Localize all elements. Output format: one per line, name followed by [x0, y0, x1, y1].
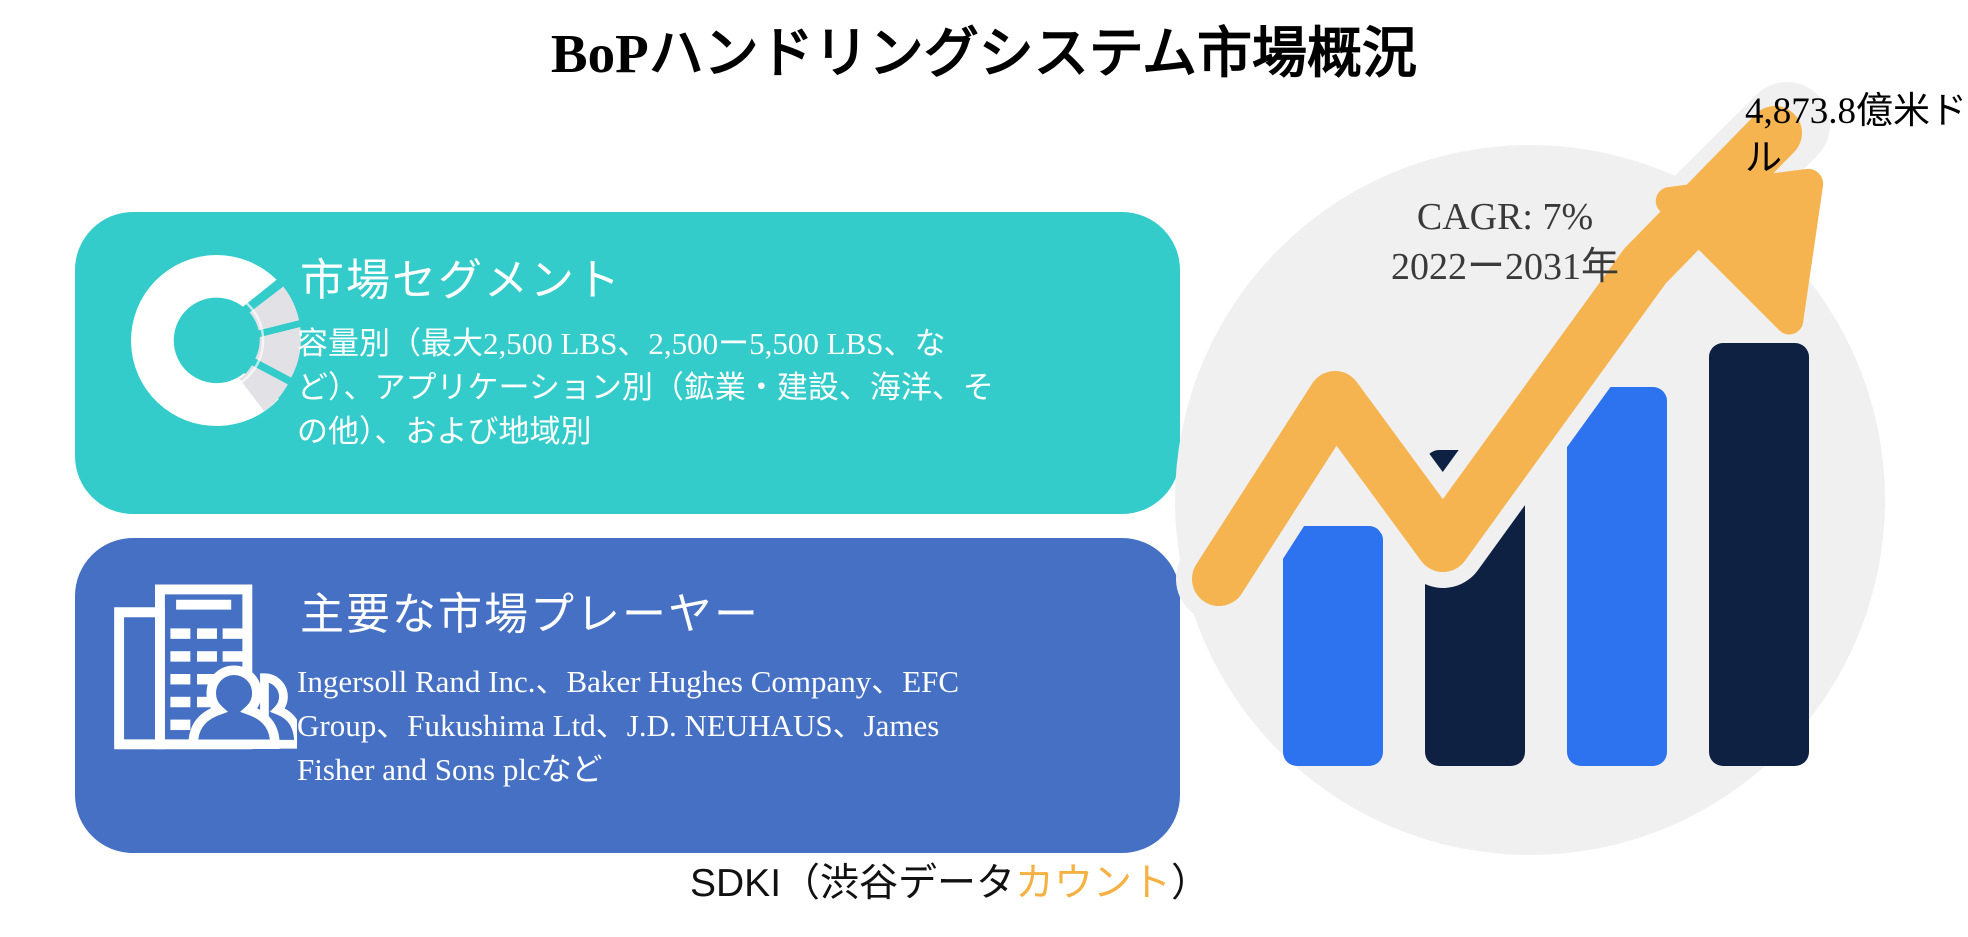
page-title: BoPハンドリングシステム市場概況: [0, 8, 1968, 88]
bar-4: [1709, 343, 1809, 766]
bar-3: [1567, 387, 1667, 766]
cagr-label: CAGR: 7% 2022ー2031年: [1345, 192, 1665, 292]
source-prefix: SDKI（渋谷データ: [690, 862, 1015, 905]
source-caption: SDKI（渋谷データカウント）: [690, 852, 1210, 908]
market-players-body: Ingersoll Rand Inc.、Baker Hughes Company…: [297, 660, 997, 792]
market-value-label: 4,873.8億米ドル: [1745, 88, 1968, 182]
donut-chart-icon: [100, 228, 325, 453]
bar-1: [1283, 526, 1383, 766]
infographic-canvas: BoPハンドリングシステム市場概況 CAGR: 7% 2022ー2031年 4,…: [0, 0, 1968, 937]
market-segment-heading: 市場セグメント: [300, 244, 622, 308]
market-segment-body: 容量別（最大2,500 LBS、2,500ー5,500 LBS、など）、アプリケ…: [297, 322, 997, 454]
cagr-line-1: CAGR: 7%: [1345, 192, 1665, 242]
market-players-heading: 主要な市場プレーヤー: [300, 578, 760, 642]
cagr-line-2: 2022ー2031年: [1345, 242, 1665, 292]
company-people-icon: [97, 560, 297, 750]
source-accent: カウント: [1015, 862, 1171, 905]
source-suffix: ）: [1171, 862, 1210, 905]
